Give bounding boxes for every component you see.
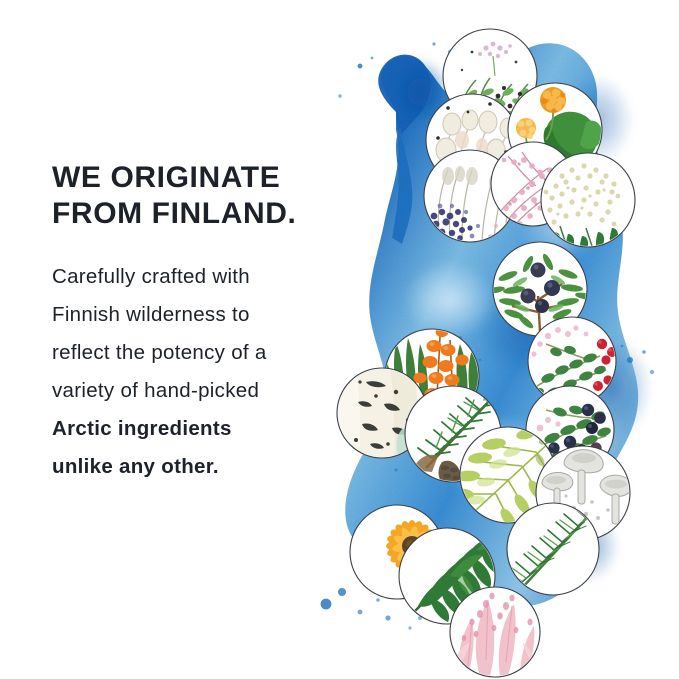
poster-canvas: WE ORIGINATE FROM FINLAND. Carefully cra… bbox=[0, 0, 679, 679]
plate-willowherb bbox=[450, 587, 540, 677]
watercolor-map-artwork bbox=[300, 0, 679, 679]
